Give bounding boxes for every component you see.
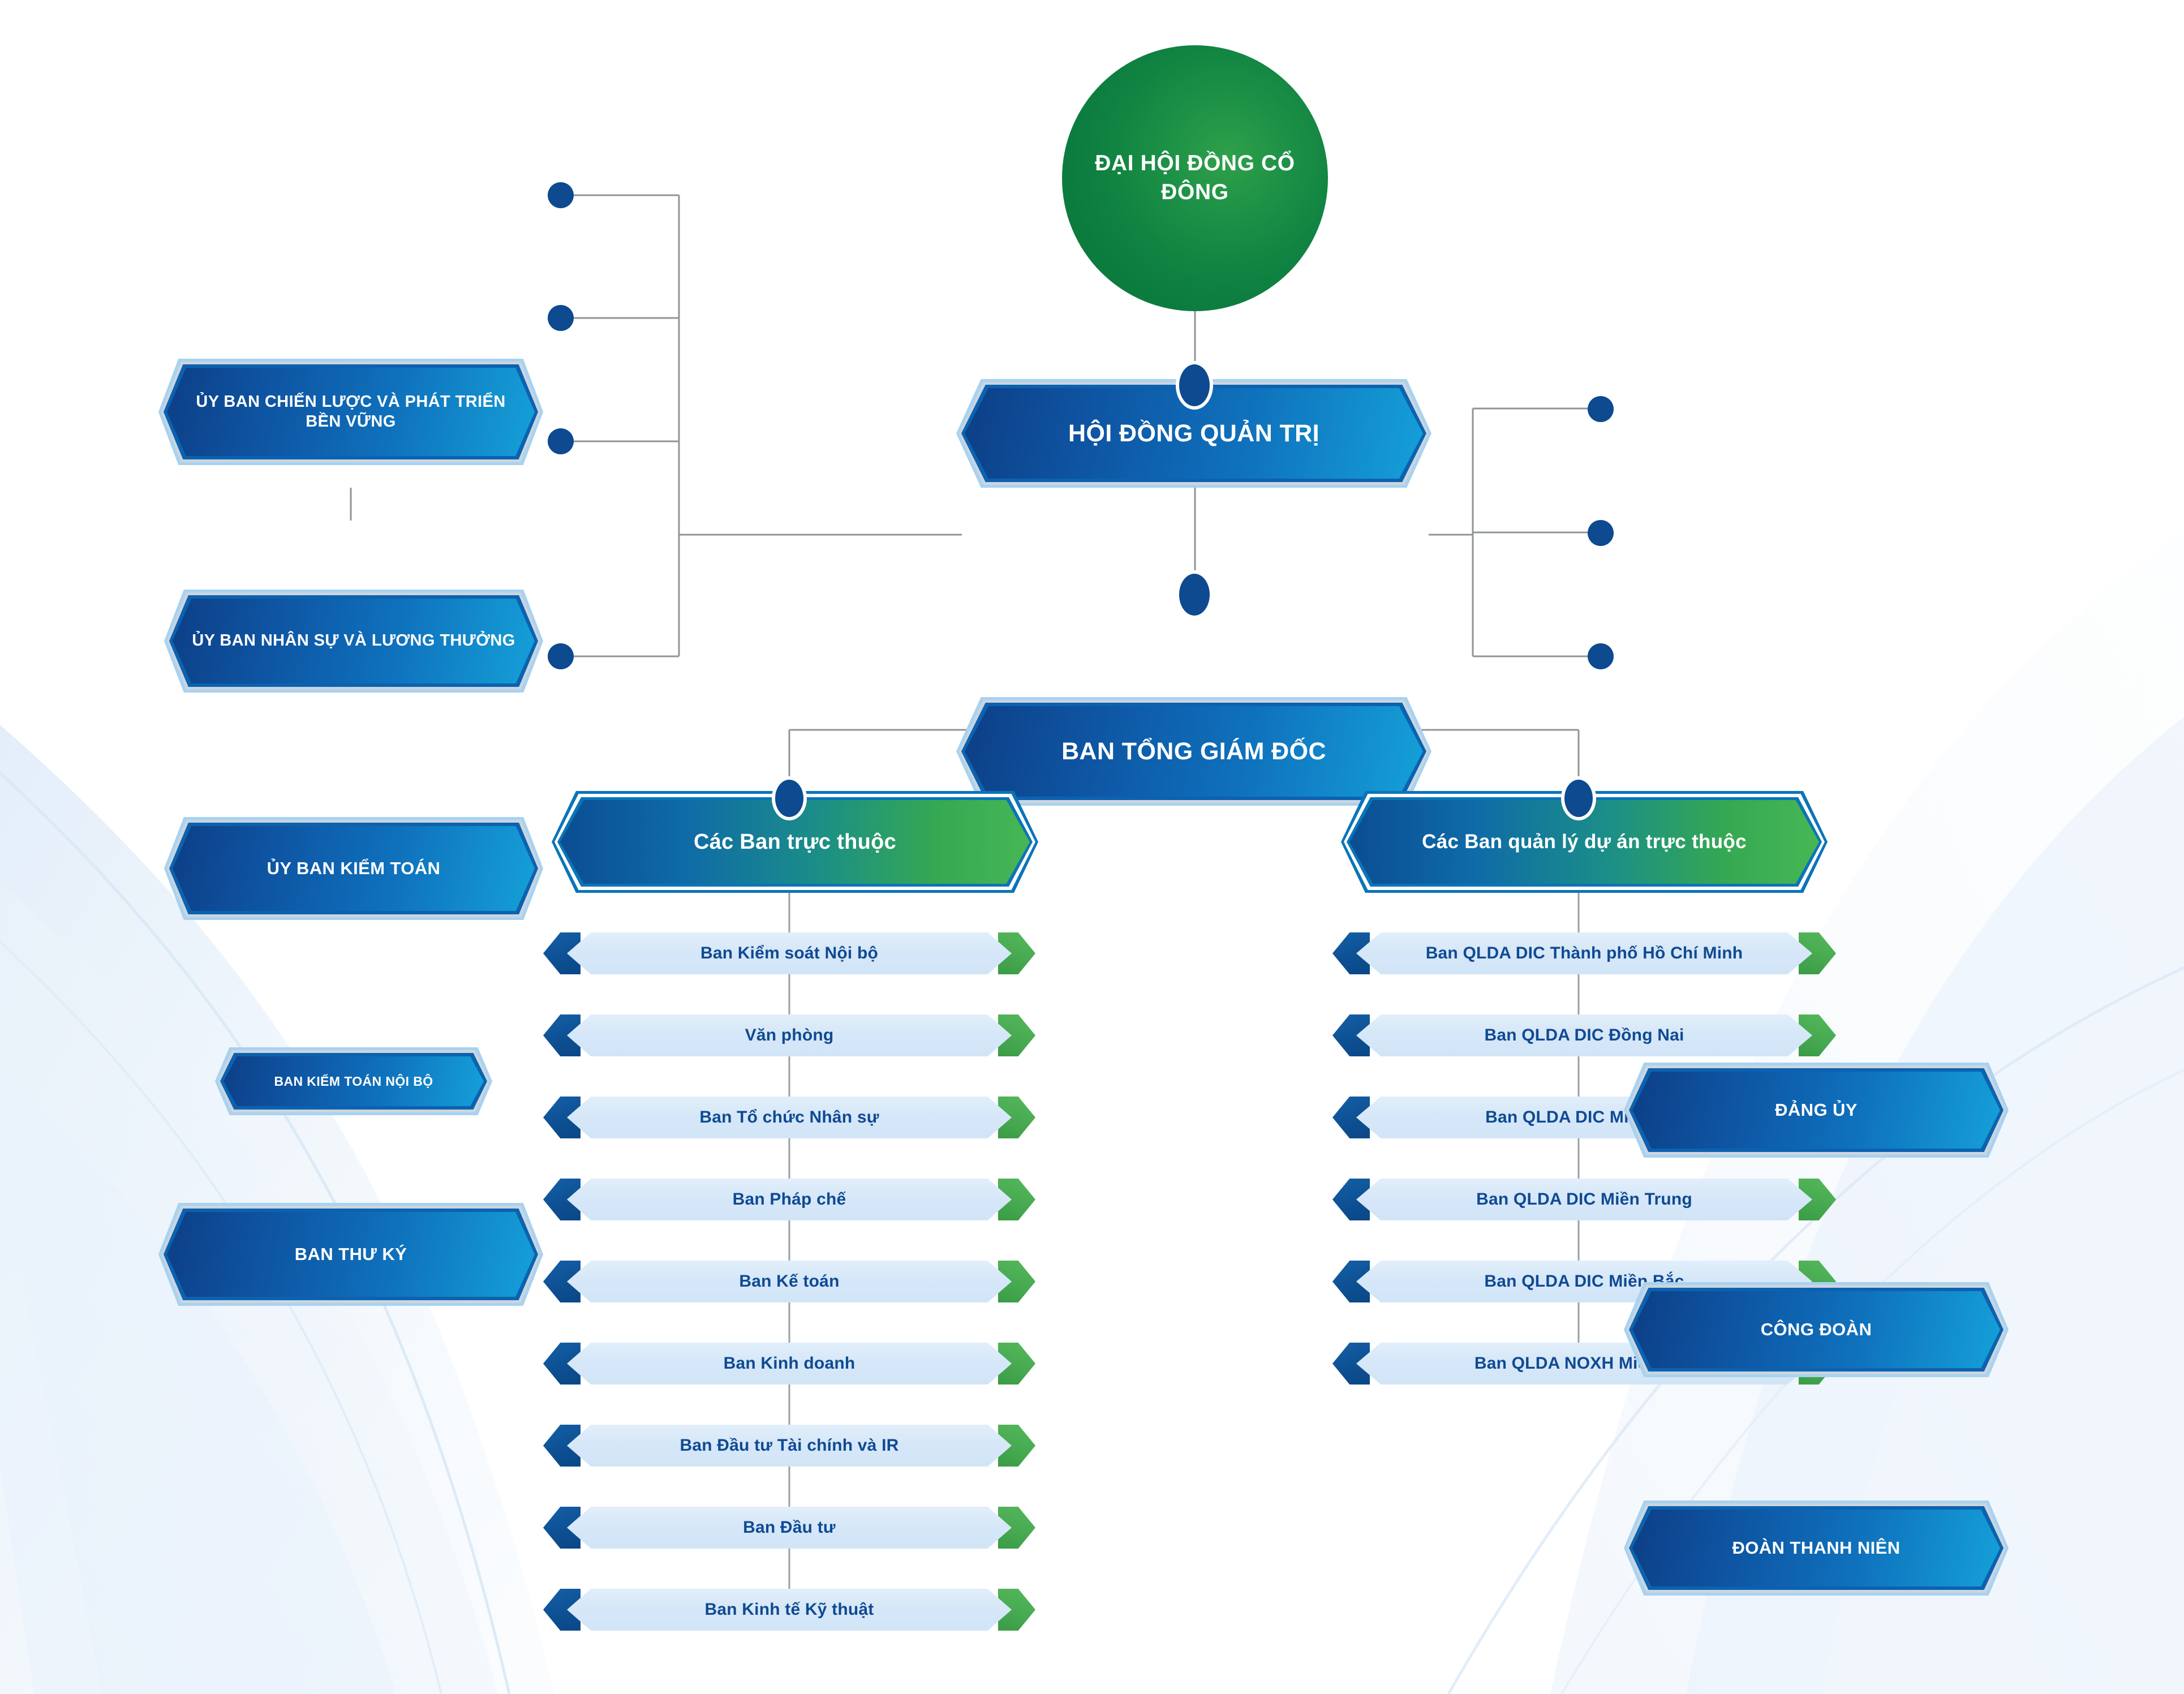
node-label: ỦY BAN KIỂM TOÁN [241, 858, 467, 879]
list-item-label: Ban Pháp chế [710, 1190, 869, 1209]
connector-dot-departments-header [772, 776, 807, 820]
connector-dot-audit-committee [548, 428, 574, 454]
node-label: HỘI ĐỒNG QUẢN TRỊ [1042, 419, 1345, 448]
group-header-label: Các Ban quản lý dự án trực thuộc [1388, 831, 1781, 853]
list-item-label: Ban Kế toán [716, 1272, 862, 1291]
list-item-label: Văn phòng [723, 1026, 857, 1045]
node-trade-union[interactable]: CÔNG ĐOÀN [1624, 1282, 2009, 1377]
node-audit-committee[interactable]: ỦY BAN KIỂM TOÁN [164, 817, 543, 920]
node-party-committee[interactable]: ĐẢNG ỦY [1624, 1063, 2009, 1158]
list-item-ban-dau-tu-tai-chinh-va-ir[interactable]: Ban Đầu tư Tài chính và IR [543, 1425, 1035, 1467]
group-header-label: Các Ban trực thuộc [660, 830, 930, 854]
node-internal-audit-department[interactable]: BAN KIỂM TOÁN NỘI BỘ [215, 1047, 492, 1115]
list-item-label: Ban QLDA DIC Đồng Nai [1461, 1026, 1706, 1045]
list-item-ban-dau-tu[interactable]: Ban Đầu tư [543, 1507, 1035, 1549]
connector-dot-executive [1176, 570, 1213, 619]
node-label: BAN TỔNG GIÁM ĐỐC [1035, 737, 1352, 766]
node-label: ĐOÀN THANH NIÊN [1706, 1537, 1926, 1559]
list-item-ban-kiem-soat-noi-bo[interactable]: Ban Kiểm soát Nội bộ [543, 932, 1035, 974]
node-label: CÔNG ĐOÀN [1735, 1319, 1898, 1340]
list-item-label: Ban QLDA DIC Thành phố Hồ Chí Minh [1403, 944, 1766, 963]
connector-dot-trade-union [1588, 520, 1614, 546]
list-item-van-phong[interactable]: Văn phòng [543, 1014, 1035, 1056]
connector-dot-party-committee [1588, 396, 1614, 422]
list-item-ban-qlda-dic-dong-nai[interactable]: Ban QLDA DIC Đồng Nai [1332, 1014, 1836, 1056]
list-item-ban-qlda-dic-mien-trung[interactable]: Ban QLDA DIC Miền Trung [1332, 1179, 1836, 1220]
connector-dot-youth-union [1588, 643, 1614, 669]
list-item-label: Ban Tổ chức Nhân sự [677, 1108, 901, 1127]
list-item-label: Ban Đầu tư Tài chính và IR [657, 1436, 922, 1455]
node-label: BAN THƯ KÝ [269, 1244, 433, 1265]
list-item-label: Ban Kiểm soát Nội bộ [678, 944, 901, 963]
node-secretariat[interactable]: BAN THƯ KÝ [158, 1203, 543, 1306]
connector-dot-secretariat [548, 643, 574, 669]
list-item-label: Ban QLDA DIC Miền Trung [1454, 1190, 1715, 1209]
list-item-ban-kinh-doanh[interactable]: Ban Kinh doanh [543, 1343, 1035, 1385]
list-item-label: Ban Đầu tư [720, 1518, 858, 1537]
connector-dot-board [1176, 361, 1213, 410]
connector-dot-hr-committee [548, 305, 574, 331]
list-item-ban-to-chuc-nhan-su[interactable]: Ban Tổ chức Nhân sự [543, 1097, 1035, 1138]
node-label: BAN KIỂM TOÁN NỘI BỘ [257, 1073, 450, 1089]
connector-dot-strategy-committee [548, 182, 574, 208]
node-youth-union[interactable]: ĐOÀN THANH NIÊN [1624, 1500, 2009, 1596]
node-label: ỦY BAN CHIẾN LƯỢC VÀ PHÁT TRIỂN BỀN VỮNG [158, 392, 543, 432]
list-item-label: Ban Kinh tế Kỹ thuật [682, 1600, 896, 1619]
node-strategy-sustainability-committee[interactable]: ỦY BAN CHIẾN LƯỢC VÀ PHÁT TRIỂN BỀN VỮNG [158, 359, 543, 465]
list-item-ban-ke-toan[interactable]: Ban Kế toán [543, 1261, 1035, 1302]
connector-dot-project-header [1561, 776, 1596, 820]
list-item-label: Ban Kinh doanh [701, 1354, 878, 1373]
node-executive-board[interactable]: BAN TỔNG GIÁM ĐỐC [956, 697, 1431, 806]
list-item-ban-qlda-dic-ho-chi-minh[interactable]: Ban QLDA DIC Thành phố Hồ Chí Minh [1332, 932, 1836, 974]
node-general-shareholders-meeting[interactable]: ĐẠI HỘI ĐỒNG CỔ ĐÔNG [1062, 45, 1328, 311]
list-item-ban-kinh-te-ky-thuat[interactable]: Ban Kinh tế Kỹ thuật [543, 1589, 1035, 1631]
org-chart-canvas: ĐẠI HỘI ĐỒNG CỔ ĐÔNG HỘI ĐỒNG QUẢN TRỊ B… [0, 0, 2184, 1694]
node-hr-remuneration-committee[interactable]: ỦY BAN NHÂN SỰ VÀ LƯƠNG THƯỞNG [164, 590, 543, 693]
node-label: ỦY BAN NHÂN SỰ VÀ LƯƠNG THƯỞNG [166, 631, 541, 651]
node-label: ĐẢNG ỦY [1749, 1099, 1884, 1121]
node-label: ĐẠI HỘI ĐỒNG CỔ ĐÔNG [1062, 149, 1328, 207]
list-item-ban-phap-che[interactable]: Ban Pháp chế [543, 1179, 1035, 1220]
